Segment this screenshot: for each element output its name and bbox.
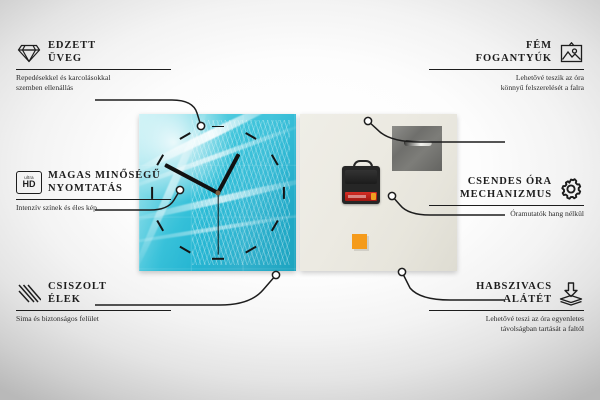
callout-header: EDZETT ÜVEG [16,40,171,65]
clock-tick [212,258,224,260]
foam-spacer-pad [352,234,367,249]
bevel-lines-icon [16,282,42,306]
callout-subtitle: Sima és biztonságos felület [16,314,171,324]
clock-tick [283,186,285,198]
hanger-slot [404,140,432,146]
clock-mechanism [342,166,380,204]
callout-divider [16,69,171,70]
callout-title: EDZETT ÜVEG [48,40,96,65]
callout-polished-edges: CSISZOLT ÉLEK Sima és biztonságos felüle… [16,281,171,324]
callout-divider [429,310,584,311]
callout-tempered-glass: EDZETT ÜVEG Repedésekkel és karcolásokka… [16,40,171,93]
picture-frame-icon [558,41,584,65]
callout-header: CSENDES ÓRA MECHANIZMUS [429,176,584,201]
infographic-canvas: EDZETT ÜVEG Repedésekkel és karcolásokka… [0,0,600,400]
wire-dot-polished-edges [272,271,279,278]
callout-title: CSENDES ÓRA MECHANIZMUS [460,176,552,201]
metal-hanger-bracket [392,126,442,171]
callout-title: CSISZOLT ÉLEK [48,281,107,306]
callout-subtitle: Lehetővé teszik az óra könnyű felszerelé… [429,73,584,93]
clock-hub [215,190,220,195]
callout-header: CSISZOLT ÉLEK [16,281,171,306]
callout-foam-pad: HABSZIVACS ALÁTÉT Lehetővé teszi az óra … [429,281,584,334]
callout-header: FÉM FOGANTYÚK [429,40,584,65]
callout-divider [429,69,584,70]
mechanism-body [345,170,377,184]
callout-title: MAGAS MINŐSÉGŰ NYOMTATÁS [48,170,161,195]
callout-subtitle: Intenzív színek és éles kép [16,203,171,213]
callout-divider [429,205,584,206]
ultra-hd-icon: ultra HD [16,171,42,195]
callout-silent-mechanism: CSENDES ÓRA MECHANIZMUS Óramutatók hang … [429,176,584,219]
gear-icon [558,177,584,201]
callout-metal-handles: FÉM FOGANTYÚK Lehetővé teszik az óra kön… [429,40,584,93]
callout-high-quality-print: ultra HD MAGAS MINŐSÉGŰ NYOMTATÁS Intenz… [16,170,171,213]
diamond-icon [16,41,42,65]
callout-title: HABSZIVACS ALÁTÉT [476,281,552,306]
callout-subtitle: Óramutatók hang nélkül [429,209,584,219]
callout-divider [16,310,171,311]
ultra-hd-label-main: HD [23,180,36,189]
callout-header: HABSZIVACS ALÁTÉT [429,281,584,306]
callout-subtitle: Lehetővé teszi az óra egyenletes távolsá… [429,314,584,334]
foam-stack-arrow-icon [558,282,584,306]
callout-divider [16,199,171,200]
second-hand [217,192,218,254]
callout-title: FÉM FOGANTYÚK [476,40,552,65]
callout-header: ultra HD MAGAS MINŐSÉGŰ NYOMTATÁS [16,170,171,195]
product-images [139,114,457,271]
battery [345,192,377,201]
callout-subtitle: Repedésekkel és karcolásokkal szemben el… [16,73,171,93]
clock-tick [212,126,224,128]
